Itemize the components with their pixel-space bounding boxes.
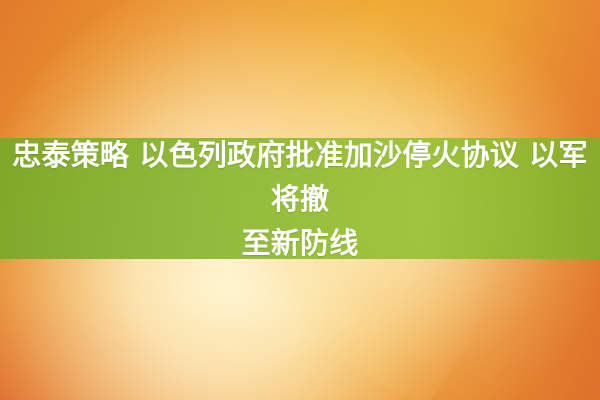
news-banner-image: 忠泰策略 以色列政府批准加沙停火协议 以军将撤 至新防线 [0, 0, 600, 400]
headline-band: 忠泰策略 以色列政府批准加沙停火协议 以军将撤 至新防线 [0, 138, 600, 259]
headline-line-1: 忠泰策略 以色列政府批准加沙停火协议 以军将撤 [0, 133, 600, 221]
headline-line-2: 至新防线 [0, 221, 600, 265]
